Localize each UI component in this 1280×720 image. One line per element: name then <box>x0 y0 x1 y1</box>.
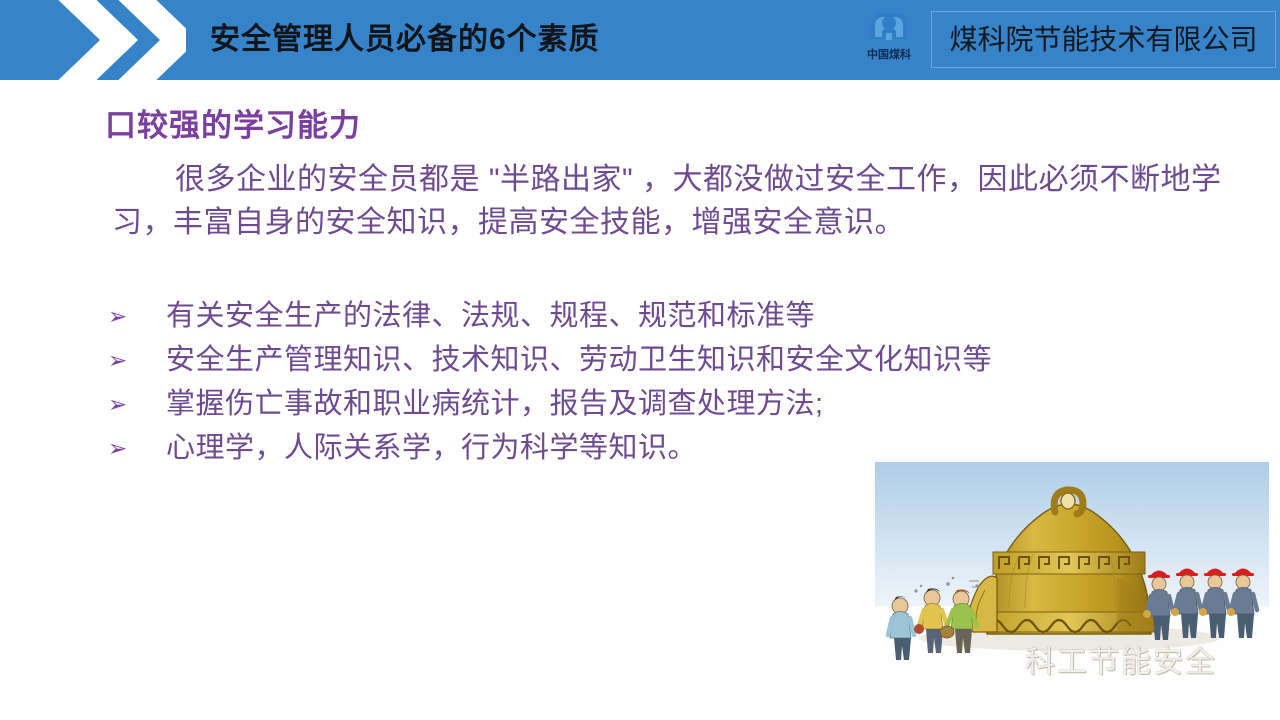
bell-illustration <box>869 456 1275 708</box>
list-item: ➢ 有关安全生产的法律、法规、规程、规范和标准等 <box>104 294 1264 338</box>
china-coal-technology-logo-icon <box>865 9 913 47</box>
company-logo-caption: 中国煤科 <box>855 48 923 62</box>
list-item-label: 安全生产管理知识、技术知识、劳动卫生知识和安全文化知识等 <box>166 338 992 382</box>
double-chevron-right-icon <box>46 0 186 80</box>
slide: 安全管理人员必备的6个素质 中国煤科 煤科院节能技术有限公司 口较强的学习能力 … <box>0 0 1280 720</box>
list-item-label: 掌握伤亡事故和职业病统计，报告及调查处理方法; <box>166 382 824 426</box>
section-heading: 口较强的学习能力 <box>105 100 361 145</box>
list-item: ➢ 掌握伤亡事故和职业病统计，报告及调查处理方法; <box>104 382 1264 426</box>
arrow-bullet-icon: ➢ <box>104 338 166 382</box>
company-name: 煤科院节能技术有限公司 <box>932 12 1275 67</box>
list-item-label: 心理学，人际关系学，行为科学等知识。 <box>166 426 697 470</box>
arrow-bullet-icon: ➢ <box>104 382 166 426</box>
company-logo: 中国煤科 <box>855 7 923 73</box>
page-title: 安全管理人员必备的6个素质 <box>210 11 830 69</box>
company-name-box: 煤科院节能技术有限公司 <box>931 11 1276 68</box>
arrow-bullet-icon: ➢ <box>104 294 166 338</box>
list-item: ➢ 安全生产管理知识、技术知识、劳动卫生知识和安全文化知识等 <box>104 338 1264 382</box>
bullet-list: ➢ 有关安全生产的法律、法规、规程、规范和标准等 ➢ 安全生产管理知识、技术知识… <box>104 294 1264 470</box>
body-paragraph: 很多企业的安全员都是 "半路出家" ，大都没做过安全工作，因此必须不断地学习，丰… <box>112 158 1232 244</box>
list-item-label: 有关安全生产的法律、法规、规程、规范和标准等 <box>166 294 815 338</box>
arrow-bullet-icon: ➢ <box>104 426 166 470</box>
slide-header: 安全管理人员必备的6个素质 中国煤科 煤科院节能技术有限公司 <box>0 0 1280 80</box>
